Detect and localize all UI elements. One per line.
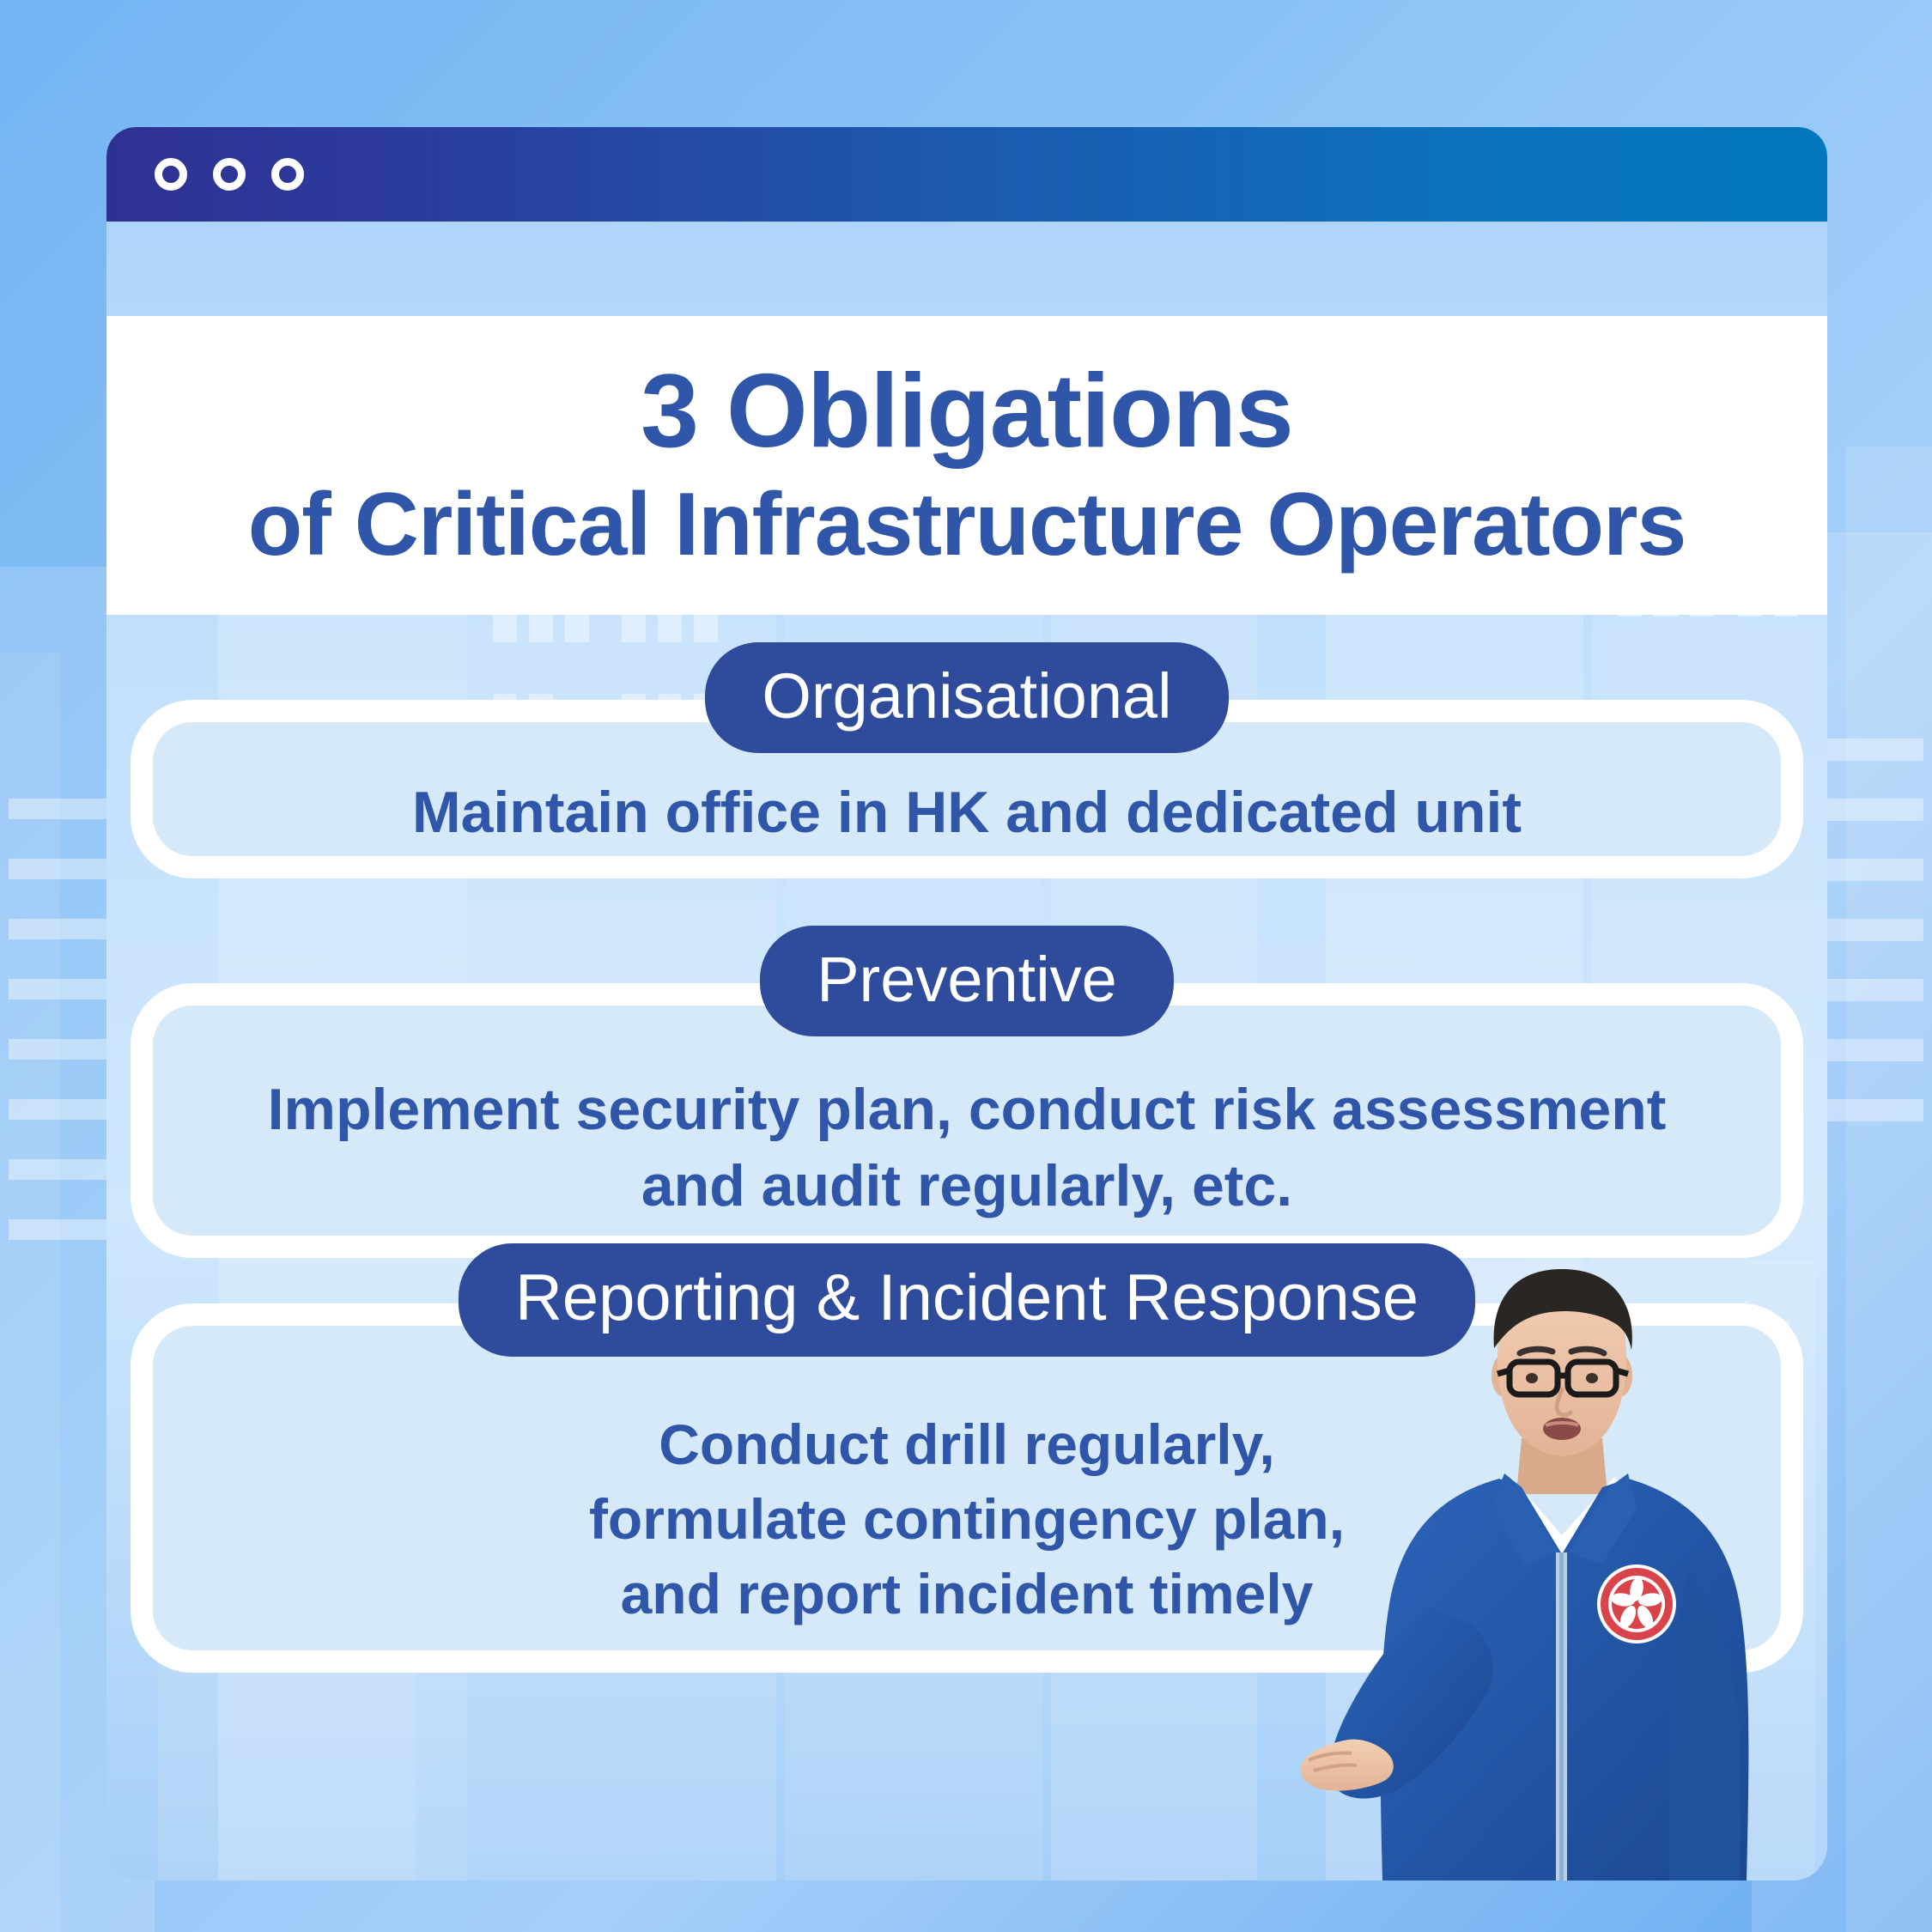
obligation-block-organisational: Organisational Maintain office in HK and… — [106, 642, 1827, 878]
window-controls — [155, 158, 304, 191]
obligation-line: Maintain office in HK and dedicated unit — [204, 775, 1729, 852]
obligation-line: and audit regularly, etc. — [204, 1148, 1729, 1225]
page-title-sub: of Critical Infrastructure Operators — [248, 478, 1686, 572]
obligation-line: Implement security plan, conduct risk as… — [204, 1072, 1729, 1149]
obligation-badge-reporting[interactable]: Reporting & Incident Response — [459, 1243, 1475, 1357]
obligation-badge-preventive[interactable]: Preventive — [760, 926, 1174, 1036]
obligation-card-text: Implement security plan, conduct risk as… — [204, 1072, 1729, 1226]
window-title-bar — [106, 127, 1827, 222]
window-dot-maximize-icon[interactable] — [271, 158, 304, 191]
obligation-card-text: Conduct drill regularly, formulate conti… — [204, 1407, 1729, 1631]
obligation-line: Conduct drill regularly, — [204, 1407, 1729, 1482]
obligation-block-preventive: Preventive Implement security plan, cond… — [106, 926, 1827, 1258]
heading-panel: 3 Obligations of Critical Infrastructure… — [106, 316, 1827, 615]
obligation-line: and report incident timely — [204, 1557, 1729, 1631]
window-dot-minimize-icon[interactable] — [213, 158, 246, 191]
obligation-badge-organisational[interactable]: Organisational — [705, 642, 1228, 753]
browser-window: 3 Obligations of Critical Infrastructure… — [106, 127, 1827, 1880]
obligation-line: formulate contingency plan, — [204, 1482, 1729, 1557]
obligation-card-reporting: Conduct drill regularly, formulate conti… — [131, 1303, 1803, 1673]
window-dot-close-icon[interactable] — [155, 158, 187, 191]
obligation-block-reporting: Reporting & Incident Response Conduct dr… — [106, 1243, 1827, 1673]
page-title-main: 3 Obligations — [641, 358, 1293, 463]
